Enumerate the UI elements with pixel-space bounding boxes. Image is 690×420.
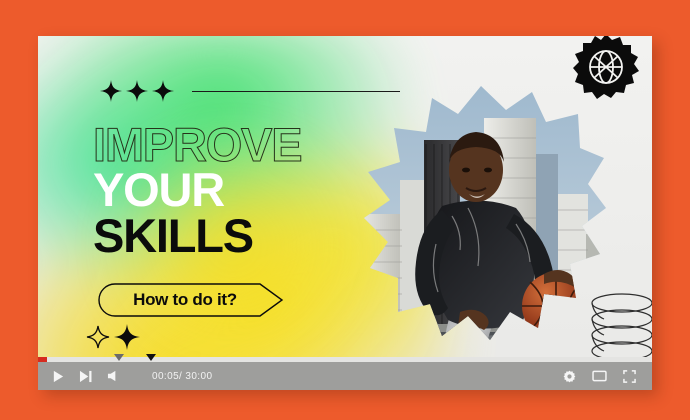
spiral-coil-icon xyxy=(578,291,652,361)
video-control-bar: 00:05/ 30:00 xyxy=(38,362,652,390)
miniplayer-icon[interactable] xyxy=(592,370,607,382)
star-icon xyxy=(126,80,148,102)
chapter-marker[interactable] xyxy=(146,354,156,361)
play-icon[interactable] xyxy=(52,370,65,383)
bottom-decoration xyxy=(86,324,140,350)
headline-line-3: SKILLS xyxy=(93,215,423,256)
fullscreen-icon[interactable] xyxy=(623,370,636,383)
star-icon xyxy=(152,80,174,102)
controls-right xyxy=(563,370,652,383)
star-filled-icon xyxy=(114,324,140,350)
top-decoration xyxy=(100,80,400,102)
timestamp: 00:05/ 30:00 xyxy=(152,371,212,382)
volume-icon[interactable] xyxy=(107,370,120,382)
next-icon[interactable] xyxy=(79,370,93,383)
globe-emblem-icon xyxy=(571,36,641,102)
poster-canvas: IMPROVE YOUR SKILLS How to do it? xyxy=(0,0,690,420)
cta-label: How to do it? xyxy=(133,290,249,310)
gear-icon[interactable] xyxy=(563,370,576,383)
headline-line-1: IMPROVE xyxy=(93,124,423,165)
star-icon xyxy=(100,80,122,102)
horizontal-rule xyxy=(192,91,400,92)
content-card: IMPROVE YOUR SKILLS How to do it? xyxy=(38,36,652,390)
headline-line-2: YOUR xyxy=(93,169,423,210)
how-to-do-it-button[interactable]: How to do it? xyxy=(98,283,284,317)
headline-group: IMPROVE YOUR SKILLS xyxy=(93,124,423,256)
controls-left: 00:05/ 30:00 xyxy=(38,370,212,383)
star-outline-icon xyxy=(86,325,110,349)
chapter-marker[interactable] xyxy=(114,354,124,361)
